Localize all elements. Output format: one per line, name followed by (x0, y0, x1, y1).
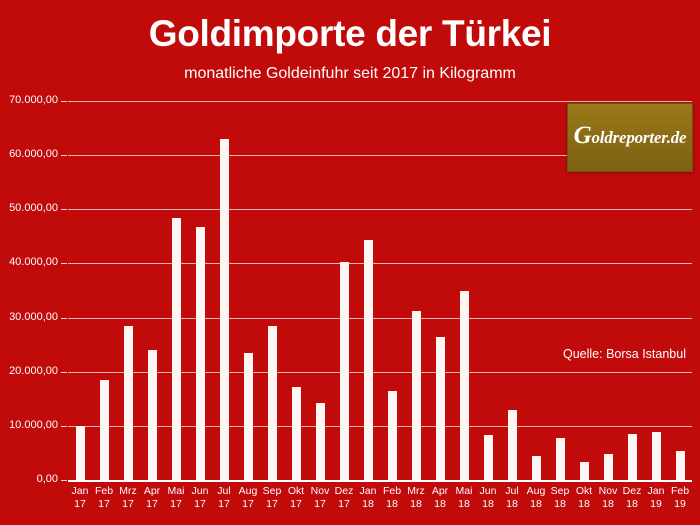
bar (532, 456, 541, 480)
gridline (68, 426, 692, 427)
bar (628, 434, 637, 480)
chart-title: Goldimporte der Türkei (0, 12, 700, 56)
bar (76, 426, 85, 480)
bar (484, 435, 493, 480)
gridline (68, 263, 692, 264)
y-axis-tick-mark (61, 318, 67, 319)
gridline (68, 480, 692, 482)
bar (508, 410, 517, 480)
bar (172, 218, 181, 480)
y-axis-tick-label: 40.000,00 (0, 257, 58, 268)
bar (436, 337, 445, 480)
bar (460, 291, 469, 480)
bar (388, 391, 397, 480)
gridline (68, 101, 692, 102)
gridline (68, 318, 692, 319)
y-axis-tick-mark (61, 101, 67, 102)
bar (124, 326, 133, 480)
goldreporter-logo: Goldreporter.de (567, 103, 693, 172)
y-axis-tick-label: 30.000,00 (0, 312, 58, 323)
logo-text: Goldreporter.de (574, 128, 687, 148)
bar (316, 403, 325, 480)
logo-wordmark: oldreporter.de (591, 128, 686, 147)
y-axis-tick-label: 50.000,00 (0, 203, 58, 214)
y-axis-tick-mark (61, 155, 67, 156)
chart-subtitle: monatliche Goldeinfuhr seit 2017 in Kilo… (0, 64, 700, 84)
bar (220, 139, 229, 480)
bar (412, 311, 421, 480)
bar (340, 262, 349, 480)
y-axis-tick-label: 60.000,00 (0, 149, 58, 160)
y-axis-tick-label: 70.000,00 (0, 95, 58, 106)
y-axis-tick-mark (61, 372, 67, 373)
gridline (68, 209, 692, 210)
x-axis-tick-label: Feb19 (660, 485, 700, 511)
y-axis-tick-label: 20.000,00 (0, 366, 58, 377)
gridline (68, 372, 692, 373)
bar (196, 227, 205, 480)
y-axis-tick-mark (61, 480, 67, 481)
bar (556, 438, 565, 480)
x-tick-year: 19 (660, 498, 700, 511)
bar (268, 326, 277, 480)
x-tick-month: Feb (660, 485, 700, 498)
y-axis-tick-label: 0,00 (0, 474, 58, 485)
bar (100, 380, 109, 480)
y-axis-tick-label: 10.000,00 (0, 420, 58, 431)
bar (580, 462, 589, 480)
bar (364, 240, 373, 480)
logo-initial: G (574, 122, 592, 149)
source-note: Quelle: Borsa Istanbul (563, 346, 686, 362)
bar (604, 454, 613, 480)
bar (244, 353, 253, 480)
y-axis-tick-mark (61, 426, 67, 427)
bar (652, 432, 661, 480)
y-axis-tick-mark (61, 209, 67, 210)
bar (148, 350, 157, 480)
gold-import-bar-chart: Goldimporte der Türkei monatliche Goldei… (0, 0, 700, 525)
bar (676, 451, 685, 480)
bar (292, 387, 301, 480)
y-axis-tick-mark (61, 263, 67, 264)
